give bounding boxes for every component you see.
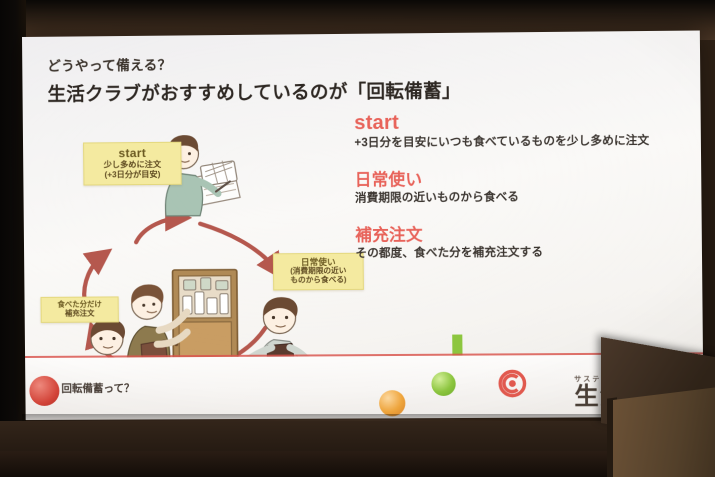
- callout-refill-order: 食べた分だけ 補充注文: [40, 296, 118, 323]
- callout-daily-use-line-2: ものから食べる): [277, 276, 360, 286]
- step-refill-order-body: その都度、食べた分を補充注文する: [355, 245, 705, 261]
- green-sphere-icon: [431, 372, 455, 396]
- slide-headline: 生活クラブがおすすめしているのが「回転備蓄」: [47, 77, 461, 107]
- step-refill-order-heading: 補充注文: [355, 224, 705, 246]
- callout-start: start 少し多めに注文 (+3日分が目安): [83, 142, 182, 185]
- callout-refill-order-line-1: 補充注文: [45, 309, 115, 318]
- step-start: start +3日分を目安にいつも食べているものを少し多めに注文: [354, 109, 704, 151]
- step-daily-use-heading: 日常使い: [355, 168, 705, 190]
- callout-daily-use: 日常使い (消費期限の近い ものから食べる): [273, 253, 364, 291]
- callout-start-title: start: [88, 146, 176, 161]
- step-start-body: +3日分を目安にいつも食べているものを少し多めに注文: [354, 134, 704, 151]
- step-start-heading: start: [354, 109, 704, 135]
- podium-body: [613, 385, 715, 477]
- red-c-mark-icon: [498, 369, 527, 397]
- step-refill-order: 補充注文 その都度、食べた分を補充注文する: [355, 224, 705, 261]
- step-daily-use-body: 消費期限の近いものから食べる: [355, 190, 705, 206]
- step-daily-use: 日常使い 消費期限の近いものから食べる: [355, 168, 705, 206]
- footer-title: 回転備蓄って？: [61, 380, 134, 395]
- slide-kicker: どうやって備える？: [47, 54, 171, 75]
- steps-list: start +3日分を目安にいつも食べているものを少し多めに注文 日常使い 消費…: [354, 109, 705, 281]
- callout-start-line-2: (+3日分が目安): [88, 170, 176, 180]
- orange-sphere-icon: [379, 390, 405, 416]
- presentation-room-scene: どうやって備える？ 生活クラブがおすすめしているのが「回転備蓄」: [0, 0, 715, 477]
- red-circle-logo-icon: [29, 376, 59, 406]
